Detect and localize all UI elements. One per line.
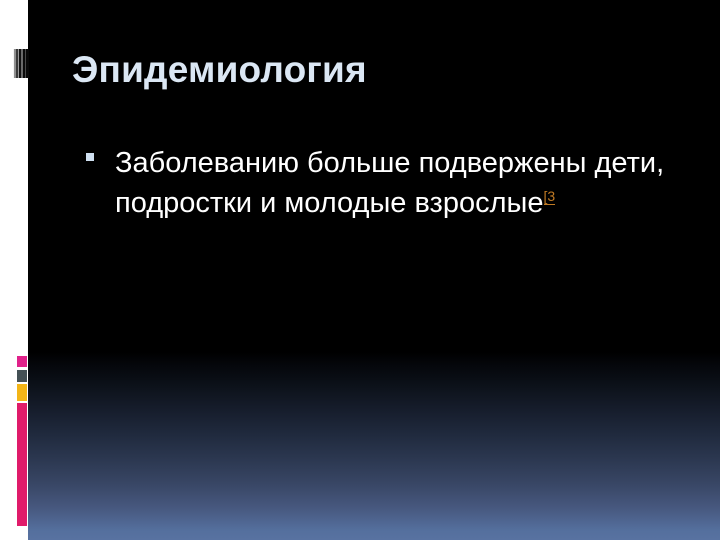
square-bullet-icon [86,153,94,161]
pink-segment-ornament [17,356,27,367]
presentation-slide: Эпидемиология Заболеванию больше подверж… [0,0,720,540]
bullet-text: Заболеванию больше подвержены дети, подр… [115,147,664,219]
slide-body: Заболеванию больше подвержены дети, подр… [86,143,676,223]
crimson-segment-ornament [17,403,27,526]
grayscale-stripe-ornament-icon [13,49,29,78]
citation-reference[interactable]: [3 [544,188,556,205]
gold-segment-ornament [17,384,27,401]
bullet-text-content: Заболеванию больше подвержены дети, подр… [115,147,664,219]
list-item: Заболеванию больше подвержены дети, подр… [86,143,676,223]
slate-segment-ornament [17,370,27,382]
slide-title: Эпидемиология [72,47,672,93]
